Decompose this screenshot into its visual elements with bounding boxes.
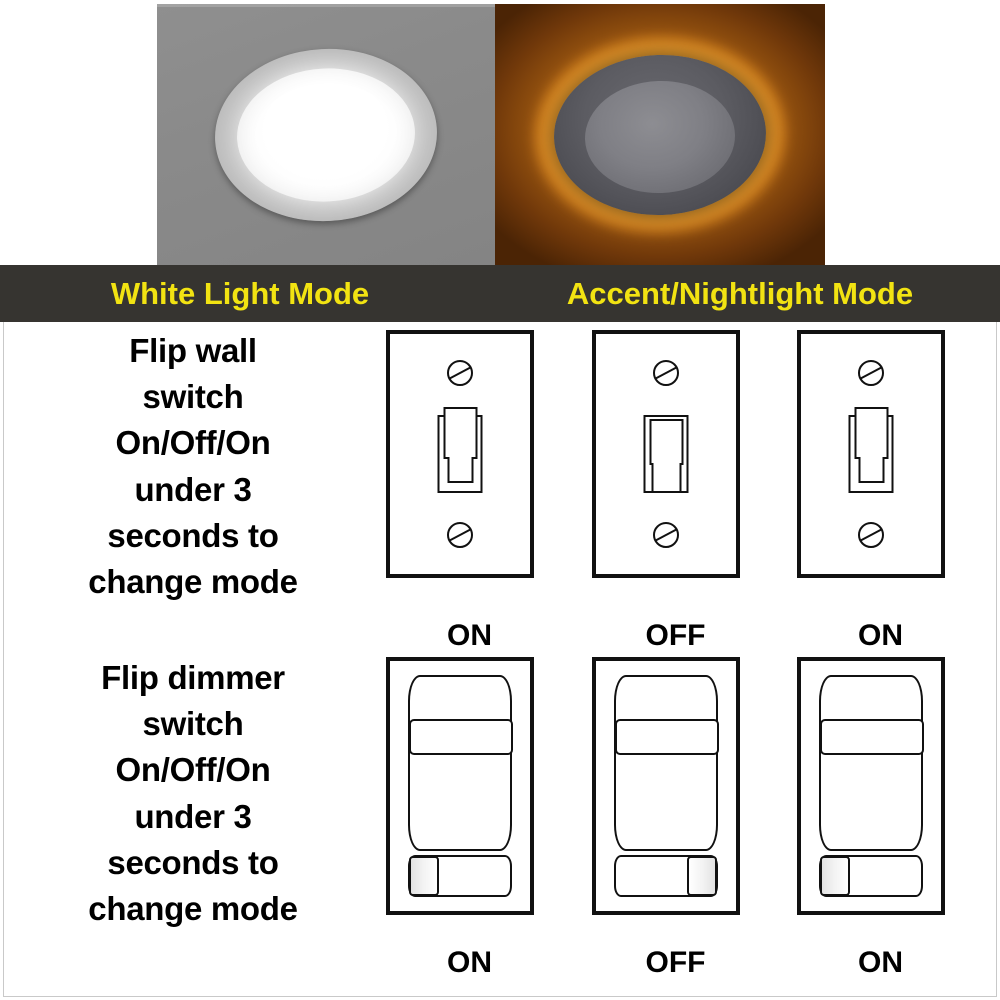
instruction-diagram: White Light Mode Accent/Nightlight Mode … [0, 0, 1000, 1000]
banner-label-accent-nightlight-mode: Accent/Nightlight Mode [500, 276, 980, 312]
mode-banner: White Light Mode Accent/Nightlight Mode [0, 265, 1000, 322]
toggle-frame[interactable] [644, 415, 689, 493]
screw-icon [858, 522, 884, 548]
dimmer-rocker-paddle[interactable] [614, 675, 718, 851]
dimmer-rocker-paddle[interactable] [408, 675, 512, 851]
toggle-lever-tip [651, 463, 681, 493]
switch-state-label: ON [382, 619, 557, 653]
switch-state-label: ON [793, 619, 968, 653]
instruction-rows: Flip wall switch On/Off/On under 3 secon… [0, 322, 1000, 1000]
switch-plate[interactable] [592, 330, 740, 578]
toggle-lever-tip [858, 457, 884, 483]
instruction-row-wall-switch: Flip wall switch On/Off/On under 3 secon… [0, 328, 1000, 655]
screw-icon [447, 522, 473, 548]
switch-state-label: ON [793, 946, 968, 980]
caption-text: Flip wall switch On/Off/On under 3 secon… [88, 328, 297, 605]
screw-icon [653, 360, 679, 386]
photo-strip [0, 0, 1000, 265]
screw-icon [858, 360, 884, 386]
switch-state-label: ON [382, 946, 557, 980]
dimmer-slider-bar[interactable] [408, 855, 512, 897]
dimmer-slider-nub-on[interactable] [409, 856, 439, 896]
dimmer-rocker-band [820, 719, 924, 755]
banner-label-white-light-mode: White Light Mode [60, 276, 420, 312]
instruction-row-dimmer-switch: Flip dimmer switch On/Off/On under 3 sec… [0, 655, 1000, 982]
dimmer-switch-step-2: OFF [588, 655, 763, 982]
switch-state-label: OFF [588, 619, 763, 653]
wall-switch-step-3: ON [793, 328, 968, 655]
toggle-lever-tip [447, 457, 473, 483]
toggle-frame[interactable] [438, 415, 483, 493]
caption-wall-switch: Flip wall switch On/Off/On under 3 secon… [18, 328, 368, 655]
toggle-lever-off[interactable] [649, 419, 683, 465]
dimmer-slider-nub-off[interactable] [687, 856, 717, 896]
wall-switch-step-2: OFF [588, 328, 763, 655]
switch-plate[interactable] [386, 330, 534, 578]
photo-accent-nightlight-mode [495, 4, 825, 265]
dimmer-plate[interactable] [592, 657, 740, 915]
dimmer-plate[interactable] [797, 657, 945, 915]
dimmer-switch-step-3: ON [793, 655, 968, 982]
dimmer-rocker-band [409, 719, 513, 755]
caption-dimmer-switch: Flip dimmer switch On/Off/On under 3 sec… [18, 655, 368, 982]
dimmer-slider-bar[interactable] [819, 855, 923, 897]
toggle-lever-on[interactable] [854, 407, 888, 459]
dimmer-rocker-paddle[interactable] [819, 675, 923, 851]
screw-icon [447, 360, 473, 386]
ceiling-seam [157, 4, 495, 7]
dimmer-slider-bar[interactable] [614, 855, 718, 897]
dimmer-plate[interactable] [386, 657, 534, 915]
dimmer-slider-nub-on[interactable] [820, 856, 850, 896]
caption-text: Flip dimmer switch On/Off/On under 3 sec… [88, 655, 297, 932]
dimmer-switch-step-1: ON [382, 655, 557, 982]
wall-switch-step-1: ON [382, 328, 557, 655]
switch-plate[interactable] [797, 330, 945, 578]
dimmer-rocker-band [615, 719, 719, 755]
switch-state-label: OFF [588, 946, 763, 980]
screw-icon [653, 522, 679, 548]
photo-white-light-mode [157, 4, 495, 265]
toggle-frame[interactable] [849, 415, 894, 493]
toggle-lever-on[interactable] [443, 407, 477, 459]
